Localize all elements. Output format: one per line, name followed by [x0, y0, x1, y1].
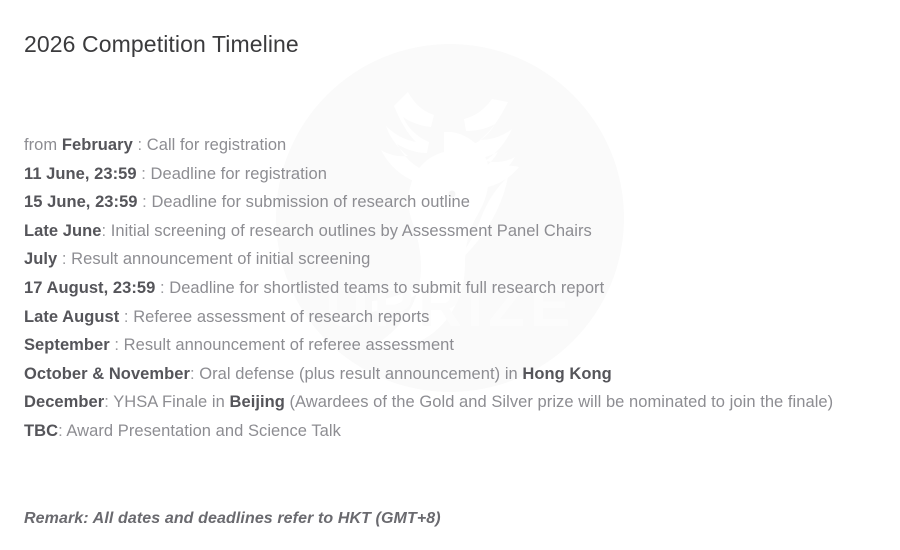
timeline-term: October & November: [24, 365, 190, 383]
timeline-separator: :: [138, 193, 152, 211]
timeline-description: Deadline for registration: [151, 165, 327, 183]
timeline-separator: :: [119, 308, 133, 326]
timeline-row: from February : Call for registration: [24, 131, 890, 160]
timeline-separator: :: [155, 279, 169, 297]
timeline-description: YHSA Finale in: [113, 393, 229, 411]
timeline-term: Late August: [24, 308, 119, 326]
timeline-description: Call for registration: [147, 136, 287, 154]
timeline-term: February: [62, 136, 133, 154]
timeline-description: Initial screening of research outlines b…: [111, 222, 592, 240]
timeline-row: October & November: Oral defense (plus r…: [24, 360, 890, 389]
page-title: 2026 Competition Timeline: [24, 31, 299, 58]
timeline-term-prefix: from: [24, 136, 62, 154]
timeline-row: 15 June, 23:59 : Deadline for submission…: [24, 188, 890, 217]
timeline-description: Result announcement of initial screening: [71, 250, 370, 268]
timeline-term: July: [24, 250, 57, 268]
timeline-term: Late June: [24, 222, 101, 240]
timeline-row: 17 August, 23:59 : Deadline for shortlis…: [24, 274, 890, 303]
timeline-separator: :: [57, 250, 71, 268]
timeline-description: Award Presentation and Science Talk: [66, 422, 340, 440]
timeline-separator: :: [101, 222, 110, 240]
timeline-term: September: [24, 336, 110, 354]
timeline-description: Oral defense (plus result announcement) …: [199, 365, 522, 383]
timeline-description: Result announcement of referee assessmen…: [124, 336, 454, 354]
timeline-emphasis: Beijing: [230, 393, 285, 411]
timeline-description: Deadline for shortlisted teams to submit…: [169, 279, 604, 297]
timeline-row: September : Result announcement of refer…: [24, 331, 890, 360]
timeline-term: TBC: [24, 422, 58, 440]
timeline-description-tail: (Awardees of the Gold and Silver prize w…: [285, 393, 833, 411]
remark-note: Remark: All dates and deadlines refer to…: [24, 508, 441, 530]
timeline-separator: :: [137, 165, 151, 183]
timeline-term: 15 June, 23:59: [24, 193, 138, 211]
timeline-row: 11 June, 23:59 : Deadline for registrati…: [24, 160, 890, 189]
timeline-row: TBC: Award Presentation and Science Talk: [24, 417, 890, 446]
timeline-term: December: [24, 393, 104, 411]
timeline-separator: :: [190, 365, 199, 383]
timeline-term: 17 August, 23:59: [24, 279, 155, 297]
timeline-description: Referee assessment of research reports: [133, 308, 429, 326]
timeline-list: from February : Call for registration11 …: [24, 131, 890, 446]
timeline-separator: :: [133, 136, 147, 154]
timeline-emphasis: Hong Kong: [522, 365, 611, 383]
timeline-row: Late June: Initial screening of research…: [24, 217, 890, 246]
timeline-separator: :: [110, 336, 124, 354]
timeline-separator: :: [104, 393, 113, 411]
timeline-page: 2026 Competition Timeline from February …: [0, 0, 900, 550]
timeline-row: December: YHSA Finale in Beijing (Awarde…: [24, 388, 890, 417]
timeline-row: Late August : Referee assessment of rese…: [24, 303, 890, 332]
timeline-row: July : Result announcement of initial sc…: [24, 245, 890, 274]
timeline-description: Deadline for submission of research outl…: [151, 193, 470, 211]
timeline-term: 11 June, 23:59: [24, 165, 137, 183]
